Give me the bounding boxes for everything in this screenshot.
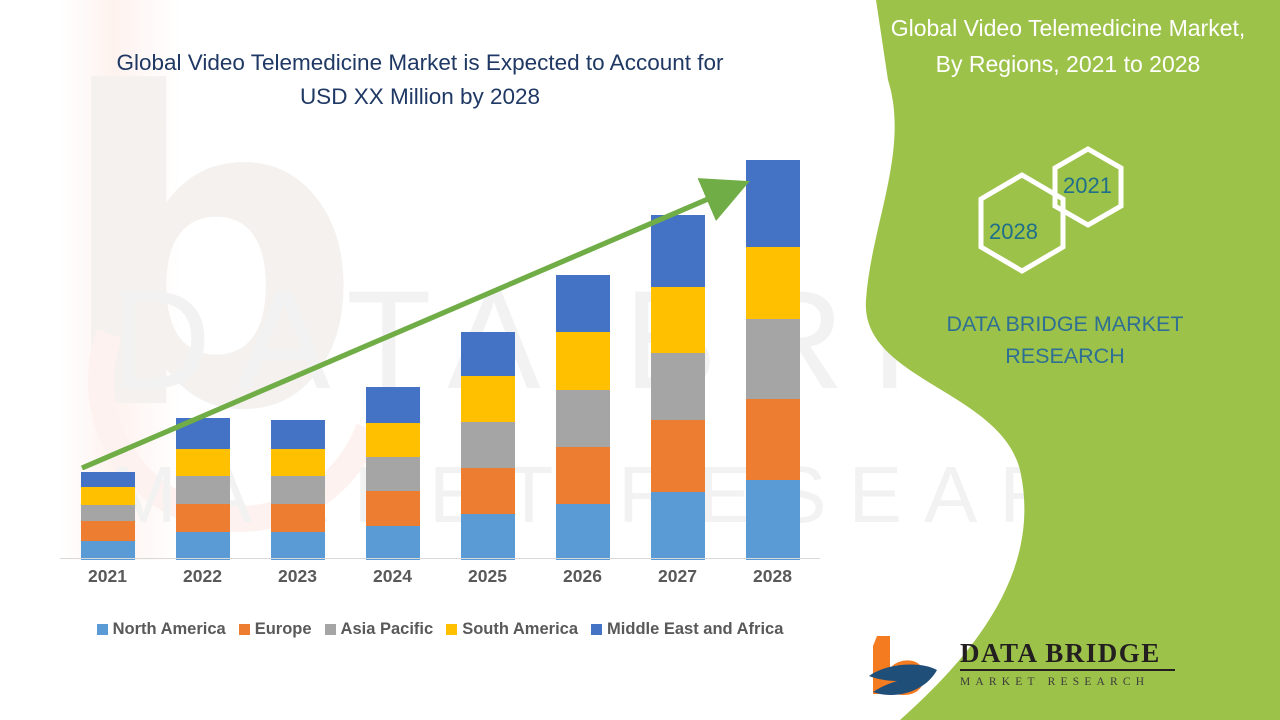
bar-segment[interactable]	[366, 491, 420, 525]
right-panel-title-line-1: Global Video Telemedicine Market,	[891, 15, 1246, 41]
bar-segment[interactable]	[461, 468, 515, 514]
logo-text-block: DATA BRIDGE MARKET RESEARCH	[960, 638, 1260, 689]
hexagon-year-badges: 2021 2028	[960, 130, 1160, 280]
x-axis-labels: 20212022202320242025202620272028	[60, 566, 820, 596]
brand-name-line-1: DATA BRIDGE MARKET	[947, 312, 1184, 336]
bar-segment[interactable]	[81, 487, 135, 505]
bar-segment[interactable]	[271, 476, 325, 504]
x-axis-tick-2024: 2024	[345, 566, 441, 587]
x-axis-tick-2022: 2022	[155, 566, 251, 587]
x-axis-baseline	[60, 558, 820, 559]
data-bridge-b-logo	[865, 632, 955, 704]
growth-trend-arrow	[60, 170, 760, 470]
legend-item[interactable]: South America	[446, 620, 578, 639]
legend-item-label: North America	[113, 620, 226, 639]
bar-segment[interactable]	[746, 480, 800, 560]
bar-segment[interactable]	[556, 504, 610, 560]
logo-title: DATA BRIDGE	[960, 638, 1260, 668]
x-axis-tick-2025: 2025	[440, 566, 536, 587]
legend-item-label: Middle East and Africa	[607, 620, 783, 639]
logo-divider	[960, 669, 1175, 671]
legend-item-label: South America	[462, 620, 578, 639]
right-panel-title: Global Video Telemedicine Market, By Reg…	[858, 10, 1278, 82]
x-axis-tick-2021: 2021	[60, 566, 156, 587]
hexagon-label-2028: 2028	[989, 219, 1038, 245]
stacked-bar[interactable]	[81, 472, 135, 560]
bar-segment[interactable]	[81, 505, 135, 521]
brand-name: DATA BRIDGE MARKET RESEARCH	[900, 308, 1230, 372]
legend-swatch-icon	[97, 624, 108, 635]
chart-panel: Global Video Telemedicine Market is Expe…	[0, 0, 880, 720]
legend-swatch-icon	[591, 624, 602, 635]
bar-segment[interactable]	[461, 514, 515, 560]
legend-item-label: Europe	[255, 620, 312, 639]
legend-item[interactable]: Europe	[239, 620, 312, 639]
legend-swatch-icon	[446, 624, 457, 635]
legend-item[interactable]: North America	[97, 620, 226, 639]
bar-segment[interactable]	[176, 532, 230, 560]
hexagon-shapes	[960, 130, 1160, 280]
legend-item[interactable]: Middle East and Africa	[591, 620, 783, 639]
chart-legend: North AmericaEuropeAsia PacificSouth Ame…	[60, 616, 820, 642]
bar-segment[interactable]	[81, 472, 135, 487]
bar-segment[interactable]	[366, 526, 420, 560]
legend-item-label: Asia Pacific	[341, 620, 434, 639]
hexagon-label-2021: 2021	[1063, 173, 1112, 199]
bar-segment[interactable]	[81, 521, 135, 540]
x-axis-tick-2027: 2027	[630, 566, 726, 587]
x-axis-tick-2026: 2026	[535, 566, 631, 587]
right-side-panel: Global Video Telemedicine Market, By Reg…	[840, 0, 1280, 720]
x-axis-tick-2023: 2023	[250, 566, 346, 587]
chart-title-line-2: USD XX Million by 2028	[300, 84, 540, 109]
x-axis-tick-2028: 2028	[725, 566, 821, 587]
right-panel-title-line-2: By Regions, 2021 to 2028	[936, 51, 1201, 77]
legend-swatch-icon	[325, 624, 336, 635]
brand-name-line-2: RESEARCH	[1005, 344, 1124, 368]
bar-segment[interactable]	[651, 492, 705, 560]
bar-segment[interactable]	[271, 504, 325, 532]
bar-segment[interactable]	[271, 532, 325, 560]
logo-subtitle: MARKET RESEARCH	[960, 675, 1260, 689]
legend-swatch-icon	[239, 624, 250, 635]
page-title: Global Video Telemedicine Market is Expe…	[40, 46, 800, 114]
bar-segment[interactable]	[176, 504, 230, 532]
data-bridge-logo: DATA BRIDGE MARKET RESEARCH	[865, 632, 1265, 704]
chart-title-line-1: Global Video Telemedicine Market is Expe…	[116, 50, 723, 75]
bar-segment[interactable]	[176, 476, 230, 504]
legend-item[interactable]: Asia Pacific	[325, 620, 434, 639]
